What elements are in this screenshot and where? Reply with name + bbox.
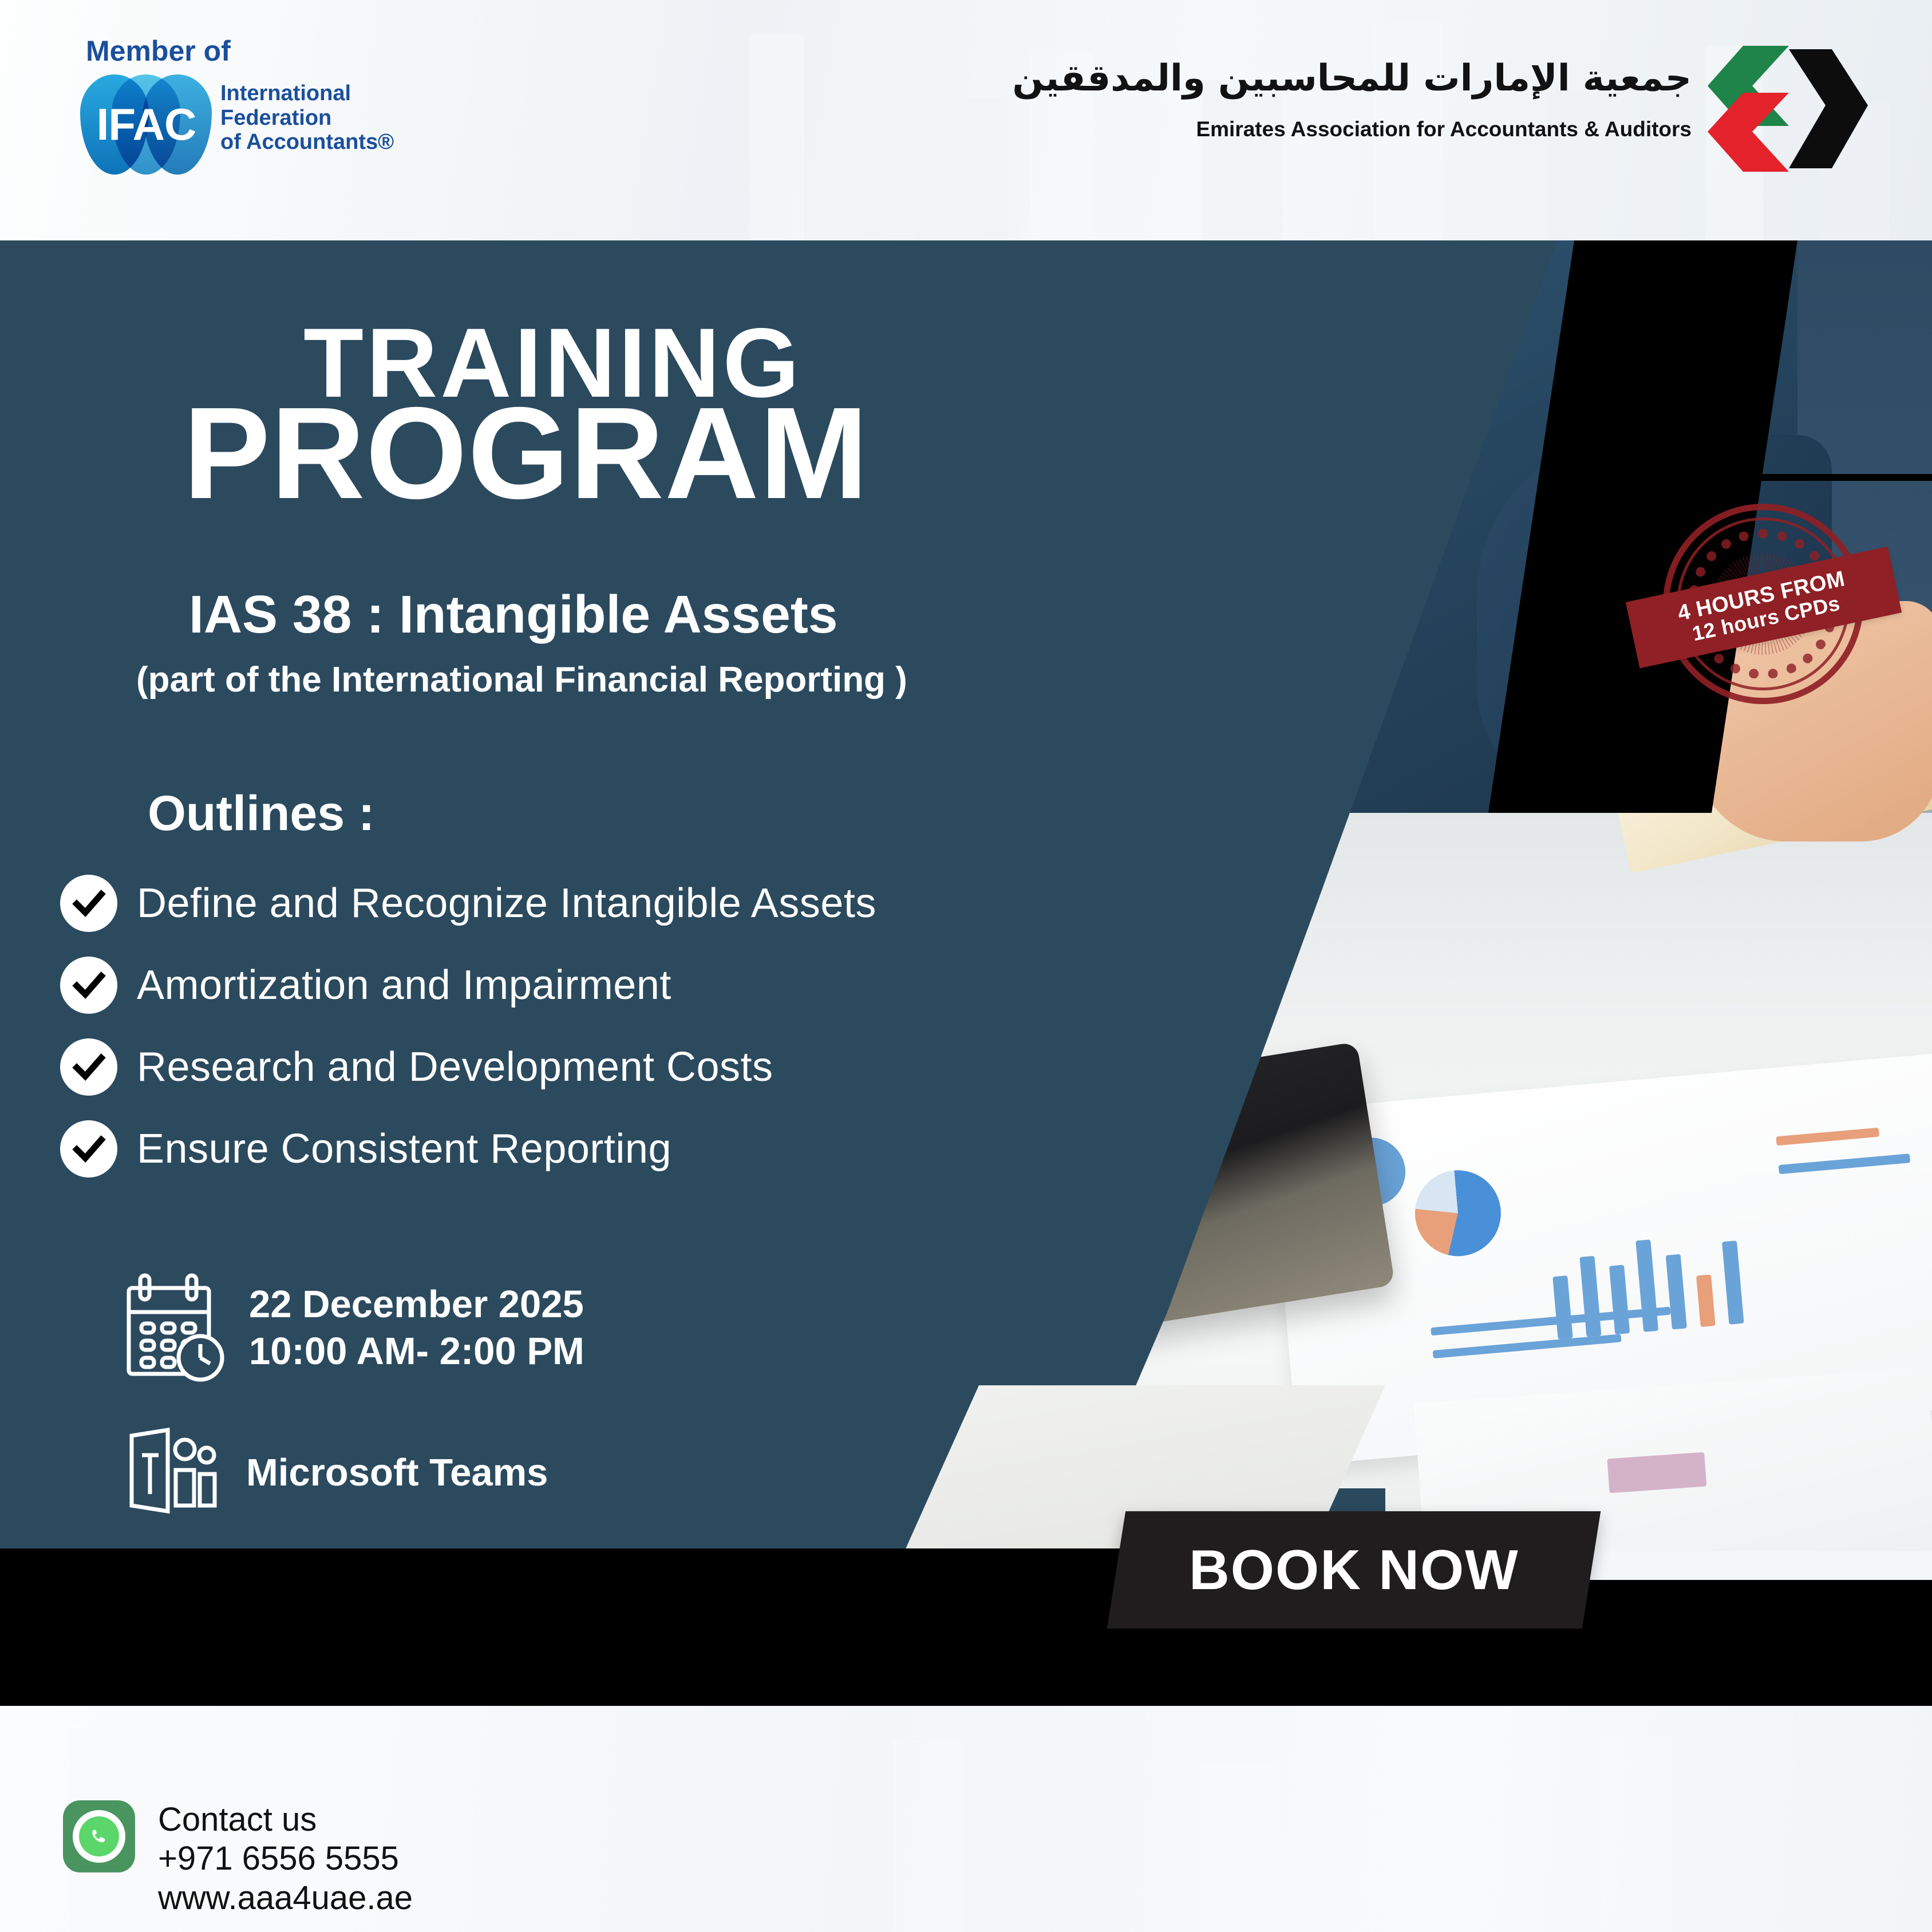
microsoft-teams-icon bbox=[123, 1425, 220, 1520]
schedule-date-block: 22 December 2025 10:00 AM- 2:00 PM bbox=[123, 1271, 584, 1385]
list-item: Amortization and Impairment bbox=[60, 952, 1091, 1018]
calendar-clock-icon bbox=[123, 1271, 226, 1385]
checkmark-icon bbox=[60, 957, 117, 1014]
footer-contact-text: Contact us +971 6556 5555 www.aaa4uae.ae bbox=[158, 1800, 413, 1918]
ifac-wordmark: IFAC bbox=[90, 98, 202, 156]
whatsapp-icon[interactable] bbox=[63, 1800, 135, 1872]
ifac-fullname-line3: of Accountants® bbox=[220, 130, 394, 155]
event-platform: Microsoft Teams bbox=[246, 1451, 548, 1495]
checkmark-icon bbox=[60, 1120, 117, 1178]
book-now-label: BOOK NOW bbox=[1189, 1538, 1519, 1602]
association-name-english: Emirates Association for Accountants & A… bbox=[1196, 117, 1692, 141]
footer-contact: Contact us +971 6556 5555 www.aaa4uae.ae bbox=[63, 1800, 413, 1918]
outlines-heading: Outlines : bbox=[148, 785, 375, 842]
event-time: 10:00 AM- 2:00 PM bbox=[249, 1328, 584, 1375]
outline-item-label: Amortization and Impairment bbox=[137, 962, 671, 1009]
association-chevron-icon bbox=[1703, 41, 1869, 176]
page-title-line2: PROGRAM bbox=[183, 388, 869, 519]
training-program-poster: Member of IFAC International Federation … bbox=[0, 0, 1932, 1932]
ifac-fullname: International Federation of Accountants® bbox=[220, 81, 394, 155]
course-title: IAS 38 : Intangible Assets bbox=[189, 584, 838, 645]
contact-website[interactable]: www.aaa4uae.ae bbox=[158, 1879, 413, 1918]
schedule-date-text: 22 December 2025 10:00 AM- 2:00 PM bbox=[249, 1281, 584, 1374]
book-now-button[interactable]: BOOK NOW bbox=[1107, 1511, 1601, 1629]
contact-phone[interactable]: +971 6556 5555 bbox=[158, 1839, 413, 1878]
association-name-arabic: جمعية الإمارات للمحاسبين والمدققين bbox=[1012, 57, 1692, 100]
list-item: Ensure Consistent Reporting bbox=[60, 1116, 1091, 1182]
course-subtitle: (part of the International Financial Rep… bbox=[136, 659, 907, 700]
checkmark-icon bbox=[60, 875, 117, 932]
decorative-horizontal-rule bbox=[1568, 474, 1932, 481]
decorative-black-band-left bbox=[0, 1548, 1311, 1709]
event-date: 22 December 2025 bbox=[249, 1281, 584, 1328]
outline-item-label: Define and Recognize Intangible Assets bbox=[137, 880, 876, 927]
outline-item-label: Research and Development Costs bbox=[137, 1044, 773, 1091]
checkmark-icon bbox=[60, 1038, 117, 1096]
cpd-badge-stamp: 4 HOURS FROM 12 hours CPDs bbox=[1663, 504, 1863, 704]
ifac-logo: Member of IFAC International Federation … bbox=[69, 34, 424, 177]
association-logo: جمعية الإمارات للمحاسبين والمدققين Emira… bbox=[1245, 57, 1875, 166]
ifac-member-of-label: Member of bbox=[86, 34, 231, 68]
schedule-platform-block: Microsoft Teams bbox=[123, 1425, 548, 1520]
list-item: Research and Development Costs bbox=[60, 1034, 1091, 1100]
list-item: Define and Recognize Intangible Assets bbox=[60, 870, 1091, 936]
outlines-list: Define and Recognize Intangible Assets A… bbox=[60, 870, 1091, 1198]
ifac-fullname-line2: Federation bbox=[220, 106, 394, 131]
ifac-fullname-line1: International bbox=[220, 81, 394, 106]
contact-label: Contact us bbox=[158, 1800, 413, 1839]
outline-item-label: Ensure Consistent Reporting bbox=[137, 1125, 671, 1172]
